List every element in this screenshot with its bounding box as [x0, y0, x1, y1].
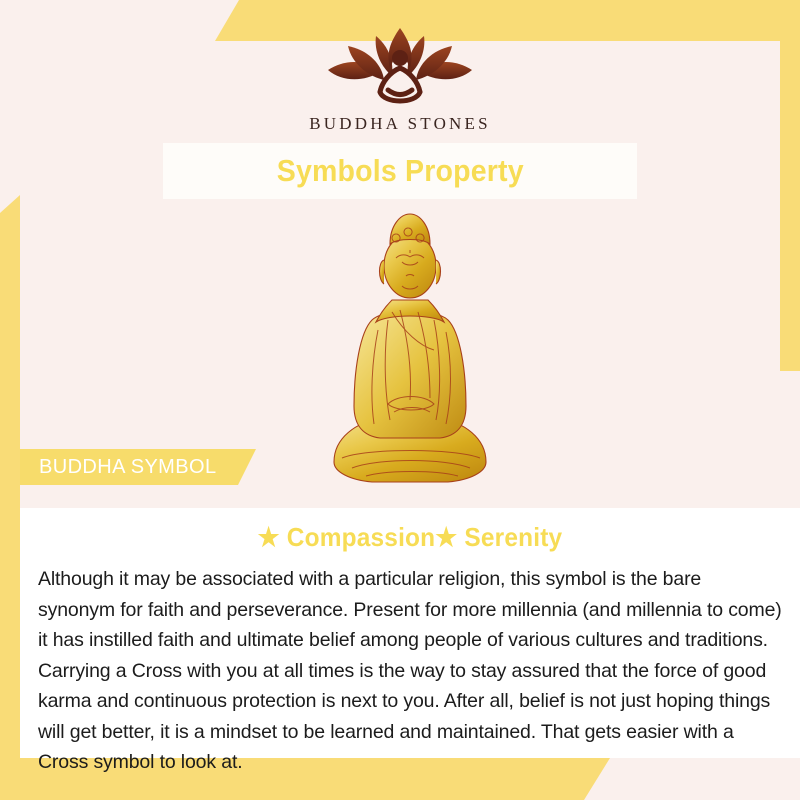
brand-name: BUDDHA STONES	[309, 114, 491, 134]
page-title: Symbols Property	[276, 153, 523, 189]
header-section: BUDDHA STONES Symbols Property	[0, 0, 800, 508]
content-panel: ★ Compassion★ Serenity Although it may b…	[20, 508, 800, 758]
content-subtitle: ★ Compassion★ Serenity	[53, 522, 767, 553]
buddha-symbol-ribbon: BUDDHA SYMBOL	[20, 449, 256, 485]
page-title-band: Symbols Property	[163, 143, 637, 199]
content-paragraph: Although it may be associated with a par…	[30, 564, 790, 778]
ribbon-label: BUDDHA SYMBOL	[20, 456, 216, 479]
brand-logo: BUDDHA STONES	[0, 24, 800, 134]
lotus-meditation-figure-icon	[316, 24, 484, 108]
seated-golden-buddha-illustration	[330, 200, 490, 490]
